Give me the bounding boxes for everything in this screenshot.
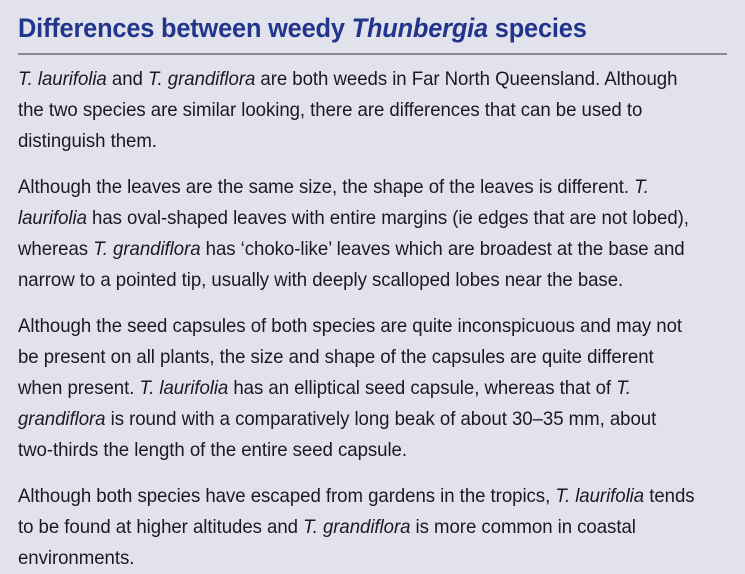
species-name: T. laurifolia	[555, 485, 644, 507]
species-name: T. grandiflora	[93, 238, 200, 260]
document-panel: Differences between weedy Thunbergia spe…	[0, 0, 745, 567]
paragraph-4: Although both species have escaped from …	[18, 481, 695, 574]
species-name: T. laurifolia	[18, 176, 649, 229]
document-body: T. laurifolia and T. grandiflora are bot…	[18, 55, 727, 574]
species-name: Thunbergia	[352, 13, 488, 43]
species-name: T. grandiflora	[18, 377, 631, 430]
species-name: T. laurifolia	[139, 377, 228, 399]
page-title: Differences between weedy Thunbergia spe…	[18, 0, 684, 45]
paragraph-3: Although the seed capsules of both speci…	[18, 311, 695, 466]
species-name: T. laurifolia	[18, 68, 107, 90]
paragraph-2: Although the leaves are the same size, t…	[18, 172, 695, 296]
paragraph-1: T. laurifolia and T. grandiflora are bot…	[18, 64, 695, 157]
species-name: T. grandiflora	[303, 516, 410, 538]
species-name: T. grandiflora	[148, 68, 255, 90]
